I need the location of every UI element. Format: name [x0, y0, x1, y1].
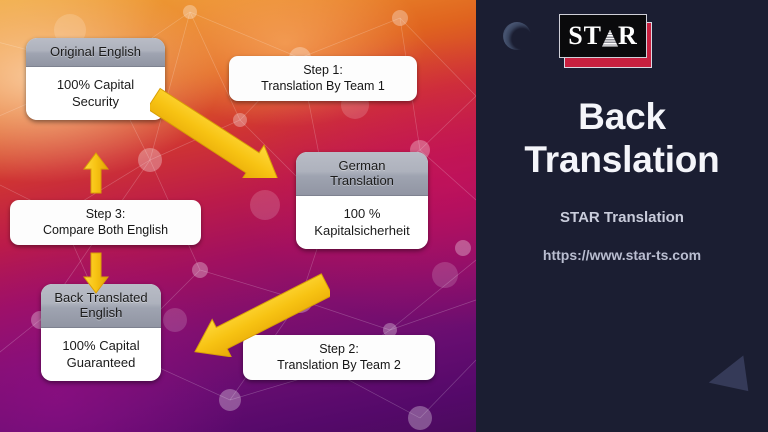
node-german-translation-body-line1: 100 %	[344, 206, 381, 221]
slide-canvas: Original English 100% Capital Security G…	[0, 0, 768, 432]
node-back-translated-english-body-line1: 100% Capital	[62, 338, 139, 353]
arrow-up-icon	[82, 152, 110, 194]
node-back-translated-english-body-line2: Guaranteed	[67, 355, 136, 370]
star-logo-text-before: ST	[568, 23, 602, 49]
page-title-line1: Back	[578, 96, 666, 137]
star-logo-triangle-a-icon	[602, 30, 618, 47]
page-title: Back Translation	[476, 95, 768, 181]
branding-panel: ST R Back Translation STAR Translation h…	[476, 0, 768, 432]
website-url[interactable]: https://www.star-ts.com	[476, 247, 768, 263]
node-original-english-header: Original English	[26, 38, 165, 67]
star-logo: ST R	[558, 13, 654, 69]
node-original-english-body-line2: Security	[72, 94, 119, 109]
node-original-english-body-line1: 100% Capital	[57, 77, 134, 92]
node-german-translation-header-line1: German	[339, 158, 386, 173]
star-logo-wordmark: ST R	[568, 23, 638, 49]
star-logo-black-plate: ST R	[559, 14, 647, 58]
brand-subtitle: STAR Translation	[476, 209, 768, 226]
node-back-translated-english-body: 100% Capital Guaranteed	[41, 328, 161, 381]
triangle-decoration-icon	[706, 356, 749, 397]
node-back-translated-english-header-line2: English	[80, 305, 123, 320]
node-back-translated-english: Back Translated English 100% Capital Gua…	[41, 284, 161, 381]
node-german-translation-header-line2: Translation	[330, 173, 394, 188]
step-3-label: Step 3: Compare Both English	[10, 200, 201, 245]
step-1-label-line1: Step 1:	[238, 62, 408, 78]
arrow-down-icon	[82, 252, 110, 294]
star-logo-text-after: R	[618, 23, 638, 49]
node-german-translation-body-line2: Kapitalsicherheit	[314, 223, 409, 238]
diagram-panel: Original English 100% Capital Security G…	[0, 0, 476, 432]
node-german-translation-body: 100 % Kapitalsicherheit	[296, 196, 428, 249]
arrow-down-right-icon	[150, 82, 325, 178]
node-original-english: Original English 100% Capital Security	[26, 38, 165, 120]
crescent-moon-icon	[503, 22, 531, 50]
step-2-label-line2: Translation By Team 2	[252, 357, 426, 373]
page-title-line2: Translation	[524, 139, 719, 180]
step-3-label-line1: Step 3:	[19, 206, 192, 222]
arrow-down-left-icon	[165, 265, 330, 357]
node-original-english-body: 100% Capital Security	[26, 67, 165, 120]
step-3-label-line2: Compare Both English	[19, 222, 192, 238]
